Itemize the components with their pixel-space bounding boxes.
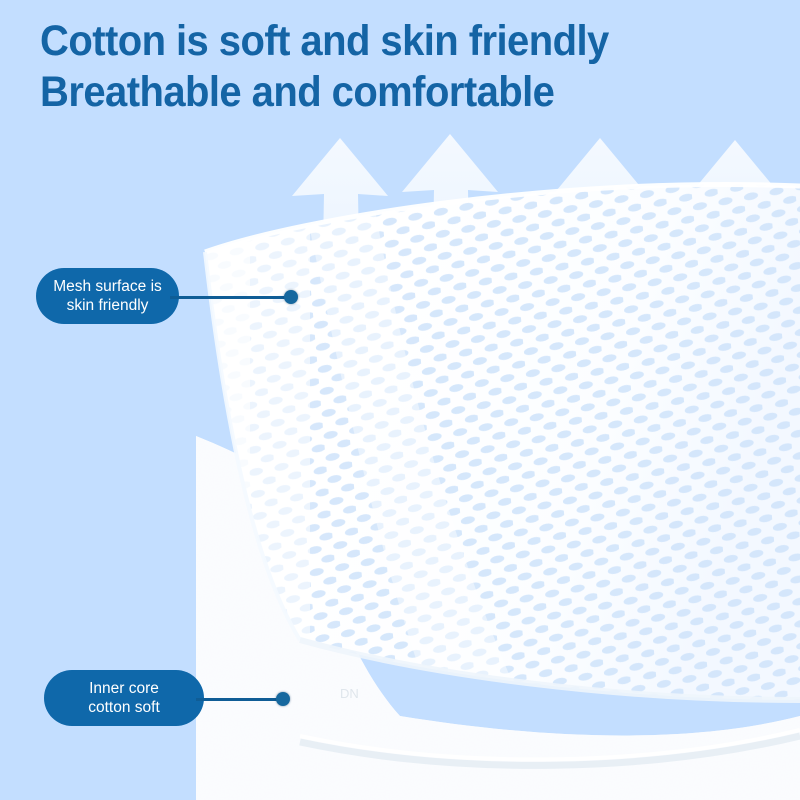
mesh-surface-callout-label: Mesh surface is skin friendly [36,268,179,324]
mesh-surface-leader-line [170,296,294,299]
core-emboss-mark: DN [340,686,359,701]
inner-core-leader-dot [276,692,290,706]
mesh-surface-leader-dot [284,290,298,304]
inner-core-leader-line [196,698,288,701]
product-feature-infographic: DN Cotton is soft and skin friendly Brea… [0,0,800,800]
page-title: Cotton is soft and skin friendly Breatha… [40,16,740,118]
title-line-2: Breathable and comfortable [40,67,691,118]
inner-core-callout-label: Inner core cotton soft [44,670,204,726]
title-line-1: Cotton is soft and skin friendly [40,16,691,67]
